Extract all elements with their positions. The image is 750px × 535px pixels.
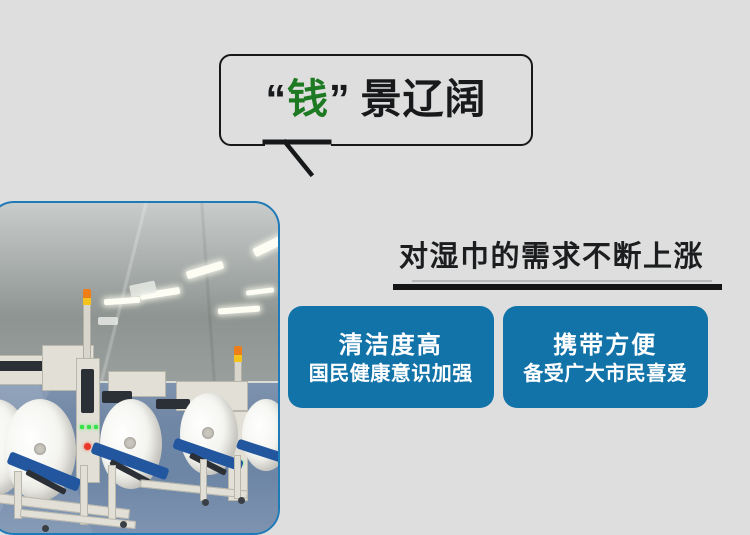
feature-card-list: 清洁度高 国民健康意识加强 携带方便 备受广大市民喜爱	[288, 306, 708, 408]
ceiling-vent	[98, 317, 118, 325]
feature-card-cleanliness[interactable]: 清洁度高 国民健康意识加强	[288, 306, 494, 408]
factory-production-line-photo	[0, 201, 280, 535]
promo-banner-page: “钱”景辽阔	[0, 0, 750, 524]
feature-card-portability[interactable]: 携带方便 备受广大市民喜爱	[503, 306, 709, 408]
feature-card-title: 清洁度高	[339, 332, 443, 360]
feature-card-subtitle: 备受广大市民喜爱	[523, 363, 687, 386]
status-led	[94, 425, 98, 429]
signal-tower	[83, 298, 91, 362]
heading-rule-thin	[412, 280, 712, 282]
machine-caster	[120, 521, 127, 528]
signal-tower-lamp	[234, 346, 242, 355]
page-title: 对湿巾的需求不断上涨	[399, 243, 704, 272]
machine-base-frame	[234, 455, 241, 499]
headline-text: “钱”景辽阔	[219, 54, 533, 146]
heading-rule-thick	[393, 284, 722, 290]
signal-tower-lamp	[83, 289, 91, 298]
photo-inner	[0, 203, 278, 533]
machine-caster	[42, 525, 49, 532]
headline-quote-open: “	[266, 79, 288, 120]
machine-part	[0, 361, 48, 371]
headline-quote-close: ”	[329, 79, 351, 120]
feature-card-title: 携带方便	[553, 332, 657, 360]
machine-base-frame	[200, 459, 207, 501]
machine-display	[81, 369, 94, 413]
paper-roll-hub	[202, 427, 214, 439]
machine-part	[156, 399, 190, 409]
speech-bubble-headline: “钱”景辽阔	[219, 54, 533, 146]
status-led	[80, 425, 84, 429]
feature-card-subtitle: 国民健康意识加强	[309, 363, 473, 386]
signal-tower-lamp	[234, 355, 242, 362]
headline-highlight: 钱	[287, 79, 329, 120]
paper-roll-hub	[34, 443, 46, 455]
headline-rest: 景辽阔	[361, 79, 487, 120]
signal-tower-lamp	[83, 298, 91, 305]
paper-roll-hub	[124, 437, 136, 449]
machine-base-frame	[108, 465, 116, 523]
status-led	[84, 443, 91, 450]
status-led	[87, 425, 91, 429]
machine-caster	[202, 499, 209, 506]
machine-caster	[238, 497, 245, 504]
